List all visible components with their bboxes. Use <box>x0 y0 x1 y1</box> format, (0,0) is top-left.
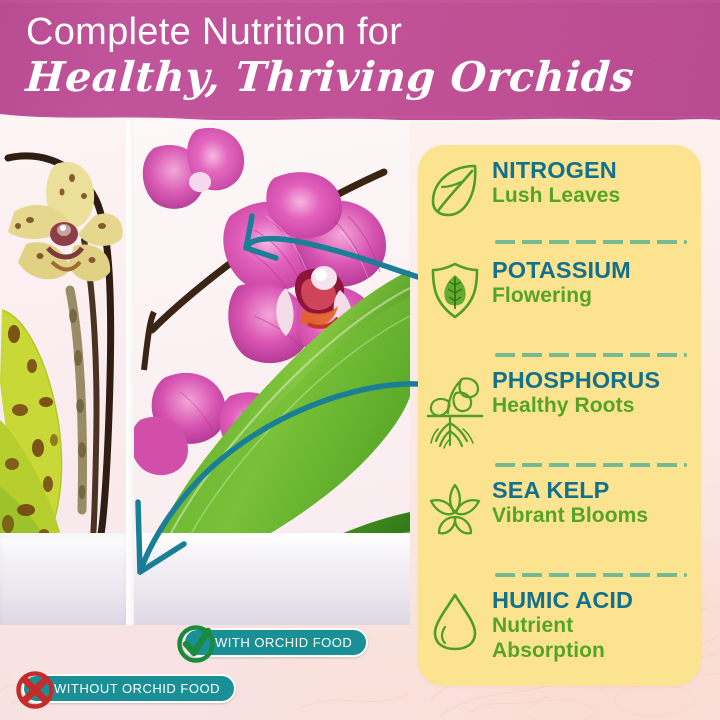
unhealthy-orchid-photo <box>0 120 126 625</box>
nutrient-item-nitrogen[interactable]: NITROGEN Lush Leaves <box>418 157 701 219</box>
separator-4 <box>495 573 687 577</box>
plant-roots-icon <box>418 367 492 449</box>
nutrient-benefit: Lush Leaves <box>492 183 695 208</box>
nutrient-benefit: Nutrient Absorption <box>492 613 695 663</box>
flower-icon <box>418 477 492 543</box>
leaf-icon <box>418 157 492 219</box>
nutrient-item-text: NITROGEN Lush Leaves <box>492 157 701 208</box>
nutrient-item-potassium[interactable]: POTASSIUM Flowering <box>418 257 701 321</box>
nutrient-item-sea-kelp[interactable]: SEA KELP Vibrant Blooms <box>418 477 701 543</box>
white-pot-right <box>134 533 410 625</box>
check-icon <box>174 622 218 666</box>
healthy-orchid-photo <box>134 120 410 625</box>
cross-icon <box>13 668 57 712</box>
nutrient-item-text: POTASSIUM Flowering <box>492 257 701 308</box>
nutrient-name: SEA KELP <box>492 477 695 503</box>
before-after-photos <box>0 120 410 625</box>
shield-leaf-icon <box>418 257 492 321</box>
photo-divider <box>126 120 134 625</box>
separator-2 <box>495 353 687 357</box>
nutrient-name: PHOSPHORUS <box>492 367 695 393</box>
separator-1 <box>495 240 687 244</box>
nutrient-panel: NITROGEN Lush Leaves <box>418 145 701 686</box>
header-banner: Complete Nutrition for Healthy, Thriving… <box>0 0 720 122</box>
without-orchid-food-badge[interactable]: WITHOUT ORCHID FOOD <box>22 674 236 703</box>
nutrient-item-phosphorus[interactable]: PHOSPHORUS Healthy Roots <box>418 367 701 449</box>
nutrient-name: NITROGEN <box>492 157 695 183</box>
nutrient-benefit: Healthy Roots <box>492 393 695 418</box>
nutrient-item-text: PHOSPHORUS Healthy Roots <box>492 367 701 418</box>
droplet-icon <box>418 587 492 653</box>
badge-label: WITHOUT ORCHID FOOD <box>54 681 220 696</box>
separator-3 <box>495 463 687 467</box>
infographic-canvas: Complete Nutrition for Healthy, Thriving… <box>0 0 720 720</box>
nutrient-item-text: SEA KELP Vibrant Blooms <box>492 477 701 528</box>
nutrient-benefit: Vibrant Blooms <box>492 503 695 528</box>
nutrient-name: HUMIC ACID <box>492 587 695 613</box>
white-pot-left <box>0 533 126 625</box>
page-title: Complete Nutrition for Healthy, Thriving… <box>26 10 686 102</box>
title-line-1: Complete Nutrition for <box>26 10 686 54</box>
nutrient-item-text: HUMIC ACID Nutrient Absorption <box>492 587 701 663</box>
nutrient-item-humic-acid[interactable]: HUMIC ACID Nutrient Absorption <box>418 587 701 663</box>
title-line-2: Healthy, Thriving Orchids <box>24 52 687 102</box>
nutrient-benefit: Flowering <box>492 283 695 308</box>
badge-label: WITH ORCHID FOOD <box>215 635 352 650</box>
nutrient-name: POTASSIUM <box>492 257 695 283</box>
nutrient-list: NITROGEN Lush Leaves <box>418 145 701 686</box>
with-orchid-food-badge[interactable]: WITH ORCHID FOOD <box>183 628 368 657</box>
